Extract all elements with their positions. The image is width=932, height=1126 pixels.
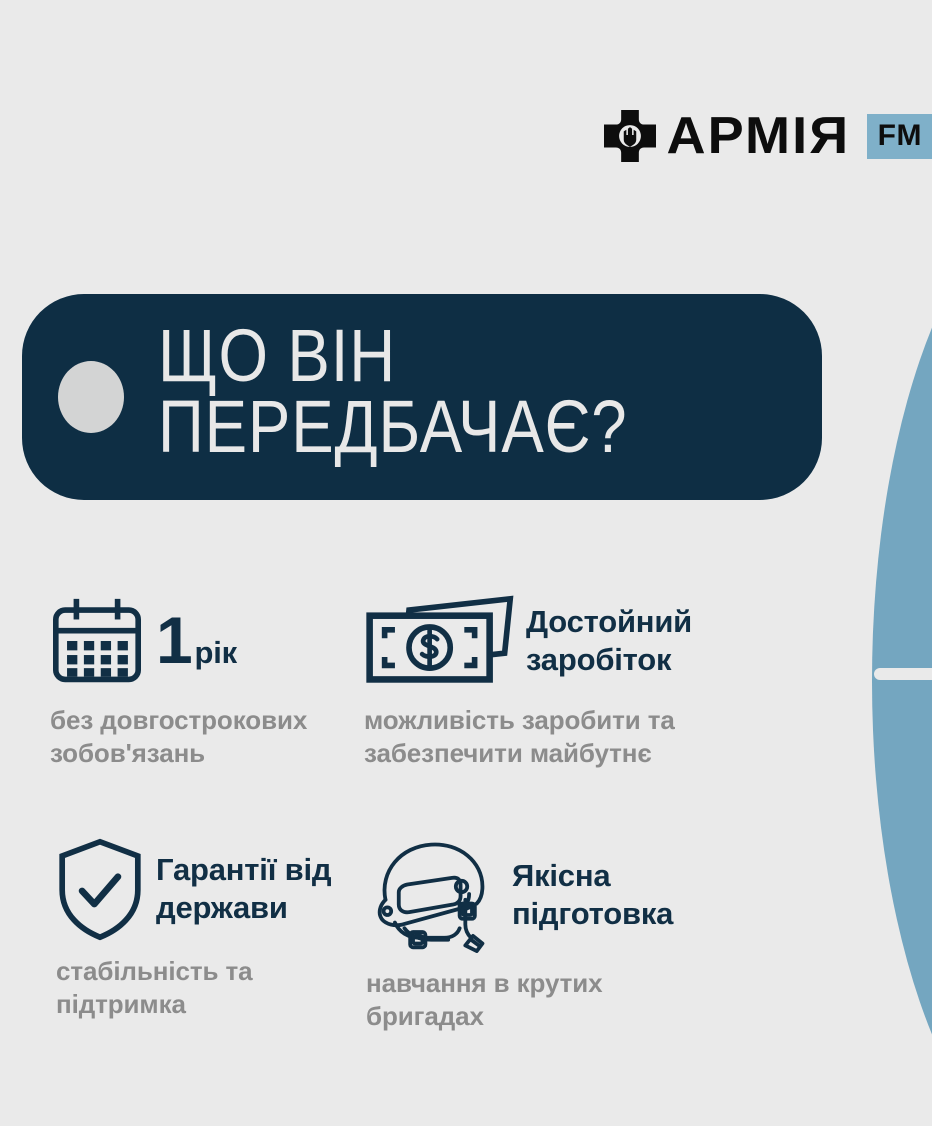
feature-row-2: Гарантії від держави стабільність та під… — [0, 837, 820, 1034]
feature-title: Якісна підготовка — [512, 857, 673, 933]
feature-title: Достойний заробіток — [526, 603, 692, 679]
feature-caption: навчання в крутих бригадах — [366, 967, 776, 1034]
feature-guarantees: Гарантії від держави стабільність та під… — [0, 837, 356, 1034]
oval-accent-bar — [874, 668, 932, 680]
calendar-icon — [50, 597, 144, 685]
feature-salary: Достойний заробіток можливість заробити … — [356, 592, 776, 771]
duration-unit: рік — [195, 634, 237, 672]
feature-training: Якісна підготовка навчання в крутих бриг… — [356, 837, 776, 1034]
brand-wordmark: АРМІЯ — [666, 110, 850, 162]
shield-check-icon — [56, 837, 144, 941]
feature-caption: можливість заробити та забезпечити майбу… — [364, 704, 776, 771]
feature-grid: 1 рік без довгострокових зобов'язань — [0, 592, 820, 1033]
brand-fm-badge: FM — [867, 114, 932, 159]
headline-banner: ЩО ВІН ПЕРЕДБАЧАЄ? — [22, 294, 822, 500]
feature-duration: 1 рік без довгострокових зобов'язань — [0, 592, 356, 771]
poster-canvas: АРМІЯ FM ЩО ВІН ПЕРЕДБАЧАЄ? — [0, 0, 932, 1126]
feature-caption: без довгострокових зобов'язань — [50, 704, 356, 771]
page-title: ЩО ВІН ПЕРЕДБАЧАЄ? — [158, 320, 708, 462]
dog-tag-hole — [58, 361, 124, 433]
blue-oval-decoration — [872, 176, 932, 1126]
brand-lockup: АРМІЯ FM — [604, 110, 932, 162]
feature-header: Достойний заробіток — [364, 592, 776, 690]
feature-header: Якісна підготовка — [366, 837, 776, 953]
feature-header: 1 рік — [50, 592, 356, 690]
feature-title: Гарантії від держави — [156, 851, 331, 927]
feature-title: 1 рік — [156, 611, 237, 672]
duration-number: 1 — [156, 611, 193, 670]
feature-row-1: 1 рік без довгострокових зобов'язань — [0, 592, 820, 771]
feature-header: Гарантії від держави — [56, 837, 356, 941]
combat-helmet-icon — [366, 837, 500, 953]
banknote-dollar-icon — [364, 595, 514, 687]
ukrainian-cross-trident-emblem — [604, 110, 656, 162]
feature-caption: стабільність та підтримка — [56, 955, 356, 1022]
